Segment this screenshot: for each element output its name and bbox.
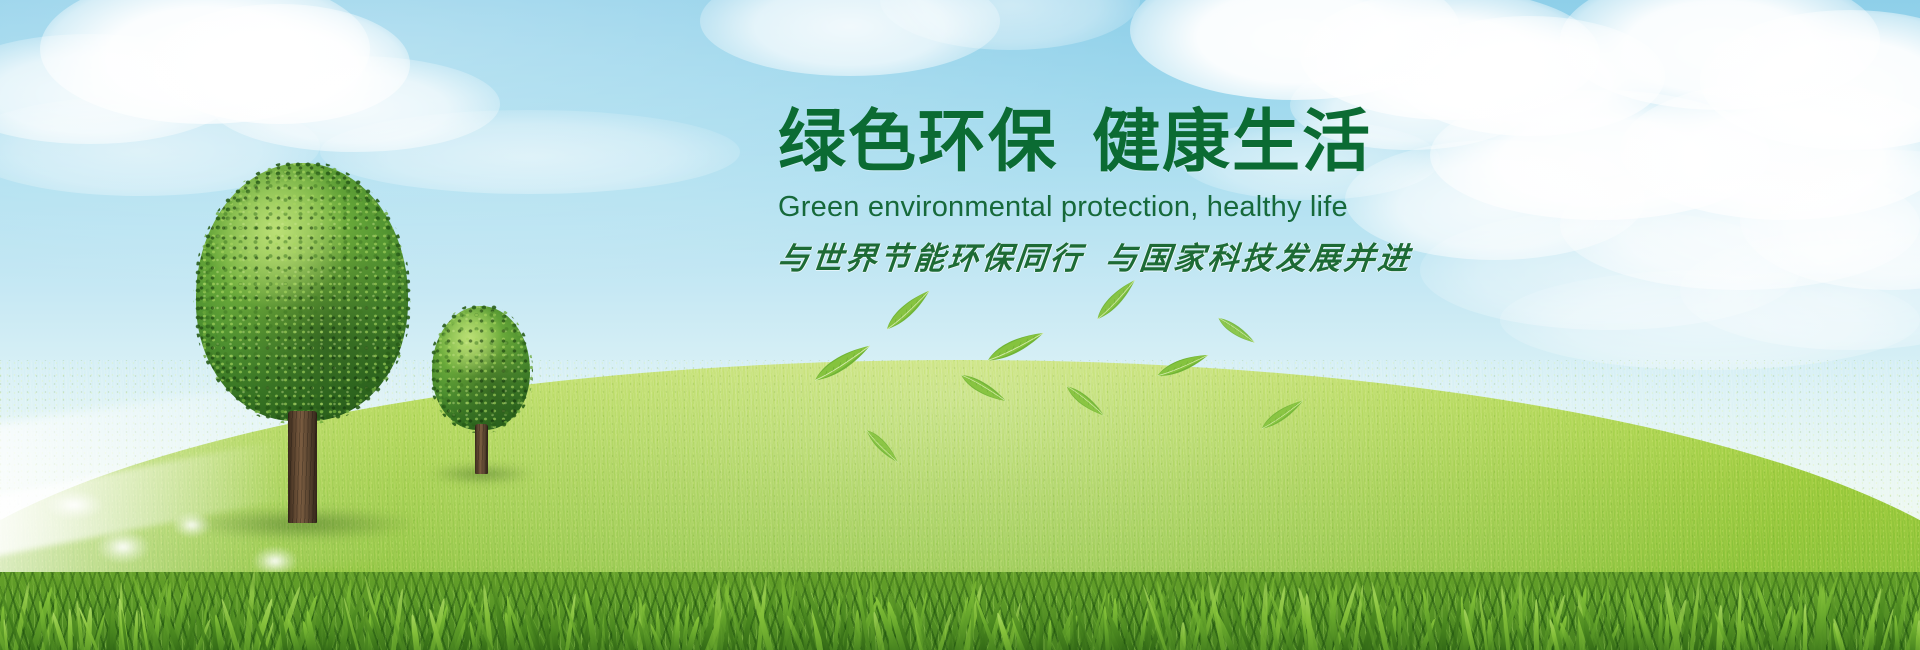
grass-blade (854, 610, 860, 650)
headline-part-2: 健康生活 (1092, 104, 1372, 180)
small-tree-canopy (432, 306, 530, 430)
small-tree-foliage-edge (429, 303, 533, 433)
headline: 绿色环保健康生活 (778, 108, 1478, 177)
large-tree-trunk (288, 411, 317, 523)
grass-blade (1847, 611, 1854, 650)
grass-blade (326, 616, 336, 650)
subtitle-chinese-part-2: 与国家科技发展并进 (1104, 241, 1414, 276)
small-tree-trunk (475, 424, 488, 474)
grass-blade (1664, 614, 1669, 650)
grass-blade (1820, 586, 1826, 650)
subtitle-chinese-part-1: 与世界节能环保同行 (776, 241, 1086, 276)
subtitle-english: Green environmental protection, healthy … (778, 191, 1478, 224)
grass-blade (315, 602, 328, 650)
grass-blade (1047, 620, 1053, 650)
grass-blade (133, 610, 139, 650)
grass-blade (110, 610, 116, 650)
grass-blade (1534, 599, 1539, 650)
large-tree-foliage-edge (193, 160, 411, 424)
grass-blade (1658, 602, 1664, 650)
subtitle-chinese: 与世界节能环保同行与国家科技发展并进 (776, 233, 1481, 278)
banner-text-block: 绿色环保健康生活 Green environmental protection,… (778, 108, 1478, 278)
large-tree-canopy (196, 163, 408, 421)
grass-blade (1039, 590, 1044, 650)
grass-blade (1803, 604, 1807, 650)
large-tree (196, 163, 408, 531)
hero-banner: 绿色环保健康生活 Green environmental protection,… (0, 0, 1920, 650)
small-tree (432, 306, 530, 478)
headline-part-1: 绿色环保 (778, 104, 1058, 180)
sparkle-4 (44, 490, 104, 520)
grass-blade-border (0, 572, 1920, 650)
grass-blade (610, 605, 619, 650)
grass-blade (1408, 597, 1413, 650)
sparkle-1 (96, 530, 150, 564)
